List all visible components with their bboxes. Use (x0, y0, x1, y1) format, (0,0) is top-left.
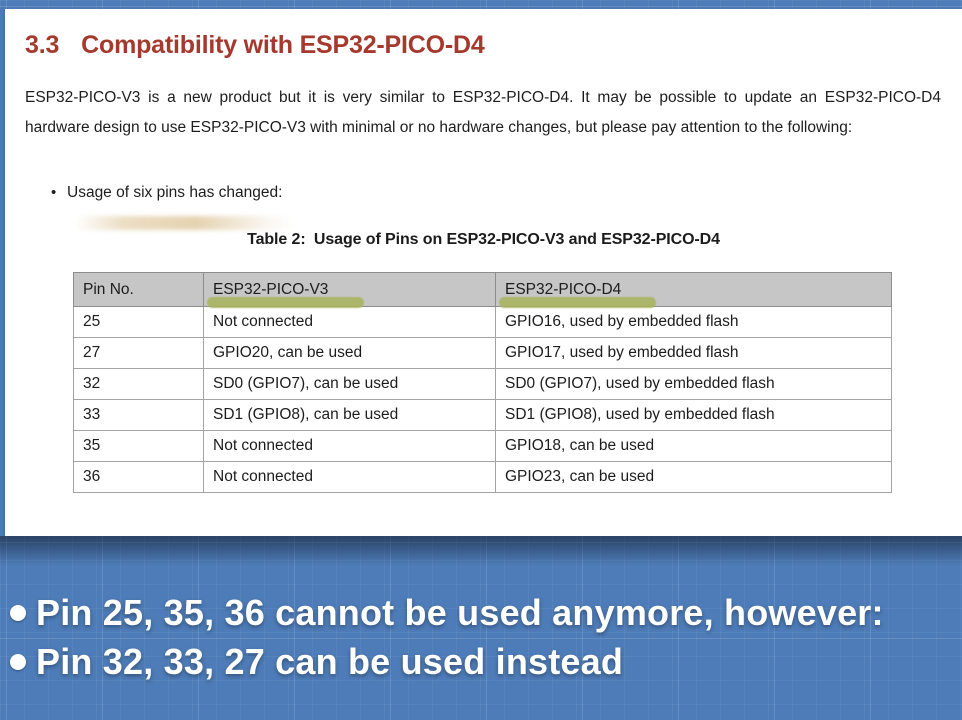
scan-smudge-artifact (75, 216, 295, 230)
caption-bullet-item: Pin 32, 33, 27 can be used instead (0, 637, 962, 686)
top-blue-strip (0, 0, 962, 9)
caption-bullet-item: Pin 25, 35, 36 cannot be used anymore, h… (0, 588, 962, 637)
pins-table: Pin No. ESP32-PICO-V3 ESP32-PICO-D4 25 N… (73, 272, 892, 493)
cell-d4: SD1 (GPIO8), used by embedded flash (496, 400, 892, 431)
cell-v3: GPIO20, can be used (204, 338, 496, 369)
bullet-dot-icon (0, 605, 36, 621)
column-header-esp32-pico-d4: ESP32-PICO-D4 (496, 273, 892, 307)
cell-pin-no: 32 (74, 369, 204, 400)
table-caption-text: Usage of Pins on ESP32-PICO-V3 and ESP32… (314, 231, 720, 248)
section-number: 3.3 (25, 31, 59, 60)
table-row: 27 GPIO20, can be used GPIO17, used by e… (74, 338, 892, 369)
cell-v3: Not connected (204, 431, 496, 462)
section-title: Compatibility with ESP32-PICO-D4 (81, 31, 484, 60)
table-row: 25 Not connected GPIO16, used by embedde… (74, 307, 892, 338)
cell-v3: SD0 (GPIO7), can be used (204, 369, 496, 400)
cell-d4: GPIO17, used by embedded flash (496, 338, 892, 369)
table-caption-label: Table 2: (247, 231, 305, 248)
column-header-pin-no: Pin No. (74, 273, 204, 307)
cell-pin-no: 25 (74, 307, 204, 338)
cell-d4: GPIO18, can be used (496, 431, 892, 462)
cell-pin-no: 35 (74, 431, 204, 462)
table-caption: Table 2: Usage of Pins on ESP32-PICO-V3 … (5, 231, 962, 249)
caption-bullet-label: Pin 25, 35, 36 cannot be used anymore, h… (36, 592, 884, 634)
bullet-icon: • (51, 183, 67, 202)
cell-pin-no: 33 (74, 400, 204, 431)
document-page: 3.3 Compatibility with ESP32-PICO-D4 ESP… (5, 9, 962, 536)
table-row: 36 Not connected GPIO23, can be used (74, 462, 892, 493)
cell-d4: GPIO23, can be used (496, 462, 892, 493)
page-title: 3.3 Compatibility with ESP32-PICO-D4 (25, 31, 485, 60)
cell-pin-no: 27 (74, 338, 204, 369)
list-item: • Usage of six pins has changed: (51, 183, 282, 202)
body-paragraph: ESP32-PICO-V3 is a new product but it is… (25, 83, 941, 143)
cell-d4: GPIO16, used by embedded flash (496, 307, 892, 338)
band-vignette (0, 536, 962, 566)
cell-v3: Not connected (204, 462, 496, 493)
table-row: 33 SD1 (GPIO8), can be used SD1 (GPIO8),… (74, 400, 892, 431)
cell-v3: Not connected (204, 307, 496, 338)
pins-table-container: Pin No. ESP32-PICO-V3 ESP32-PICO-D4 25 N… (73, 272, 891, 493)
table-row: 35 Not connected GPIO18, can be used (74, 431, 892, 462)
table-header-row: Pin No. ESP32-PICO-V3 ESP32-PICO-D4 (74, 273, 892, 307)
slide-stage: 3.3 Compatibility with ESP32-PICO-D4 ESP… (0, 0, 962, 720)
caption-bullet-list: Pin 25, 35, 36 cannot be used anymore, h… (0, 588, 962, 686)
caption-band: Pin 25, 35, 36 cannot be used anymore, h… (0, 536, 962, 720)
cell-v3: SD1 (GPIO8), can be used (204, 400, 496, 431)
caption-bullet-label: Pin 32, 33, 27 can be used instead (36, 641, 623, 683)
table-row: 32 SD0 (GPIO7), can be used SD0 (GPIO7),… (74, 369, 892, 400)
list-item-label: Usage of six pins has changed: (67, 183, 282, 202)
cell-pin-no: 36 (74, 462, 204, 493)
bullet-dot-icon (0, 654, 36, 670)
cell-d4: SD0 (GPIO7), used by embedded flash (496, 369, 892, 400)
column-header-esp32-pico-v3: ESP32-PICO-V3 (204, 273, 496, 307)
